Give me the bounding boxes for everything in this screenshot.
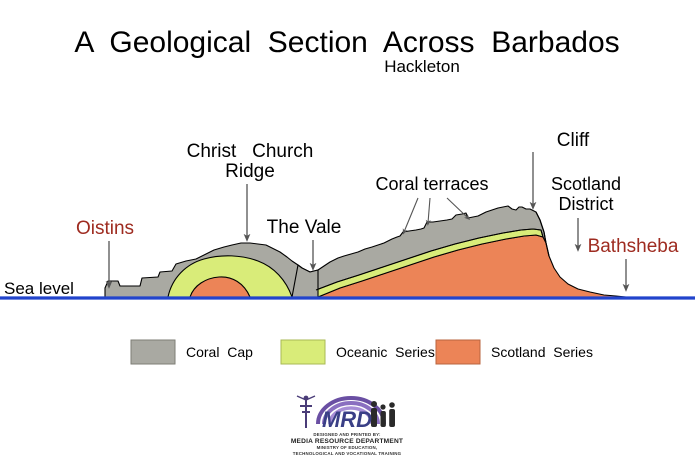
page-title: A Geological Section Across Barbados xyxy=(74,26,619,59)
label-bathsheba: Bathsheba xyxy=(588,236,679,288)
scotland-district-label-line1: Scotland xyxy=(551,174,621,194)
bathsheba-label: Bathsheba xyxy=(588,236,679,257)
legend-label-oceanic-series: Oceanic Series xyxy=(336,344,435,360)
footer-line-4: TECHNOLOGICAL AND VOCATIONAL TRAINING xyxy=(293,451,402,456)
cross-section-body xyxy=(105,206,626,297)
legend-item-scotland-series: Scotland Series xyxy=(436,340,593,364)
sea-level-label: Sea level xyxy=(4,279,74,298)
legend-swatch-oceanic-series xyxy=(281,340,325,364)
oistins-label: Oistins xyxy=(76,218,134,239)
diagram-canvas: A Geological Section Across Barbados Hac… xyxy=(0,0,695,460)
footer-line-1: DESIGNED AND PRINTED BY: xyxy=(313,432,381,437)
legend-label-scotland-series: Scotland Series xyxy=(491,344,593,360)
the-vale-label: The Vale xyxy=(267,217,342,238)
coral-terraces-arrow-2 xyxy=(428,198,430,223)
christ-church-ridge-label-line1: Christ Church xyxy=(187,141,314,162)
legend-item-coral-cap: Coral Cap xyxy=(131,340,253,364)
cliff-label: Cliff xyxy=(557,130,590,151)
geological-section-figure: A Geological Section Across Barbados Hac… xyxy=(0,0,695,460)
coral-terraces-arrow-1 xyxy=(404,198,418,232)
footer-line-2: MEDIA RESOURCE DEPARTMENT xyxy=(291,438,403,445)
legend-item-oceanic-series: Oceanic Series xyxy=(281,340,435,364)
page-subtitle: Hackleton xyxy=(384,57,460,76)
footer-line-3: MINISTRY OF EDUCATION, xyxy=(317,445,378,450)
label-oistins: Oistins xyxy=(76,218,134,285)
legend: Coral Cap Oceanic Series Scotland Series xyxy=(131,340,593,364)
mrd-logo-mark: MRD xyxy=(297,396,395,432)
legend-swatch-scotland-series xyxy=(436,340,480,364)
footer-logo: MRD DESIGNED AND PRINTED BY: MEDIA RESOU… xyxy=(291,396,403,456)
scotland-district-label-line2: District xyxy=(559,194,614,214)
christ-church-ridge-label-line2: Ridge xyxy=(225,161,275,182)
legend-label-coral-cap: Coral Cap xyxy=(186,344,253,360)
coral-terraces-label: Coral terraces xyxy=(375,174,488,194)
legend-swatch-coral-cap xyxy=(131,340,175,364)
mrd-wordmark: MRD xyxy=(322,407,372,432)
